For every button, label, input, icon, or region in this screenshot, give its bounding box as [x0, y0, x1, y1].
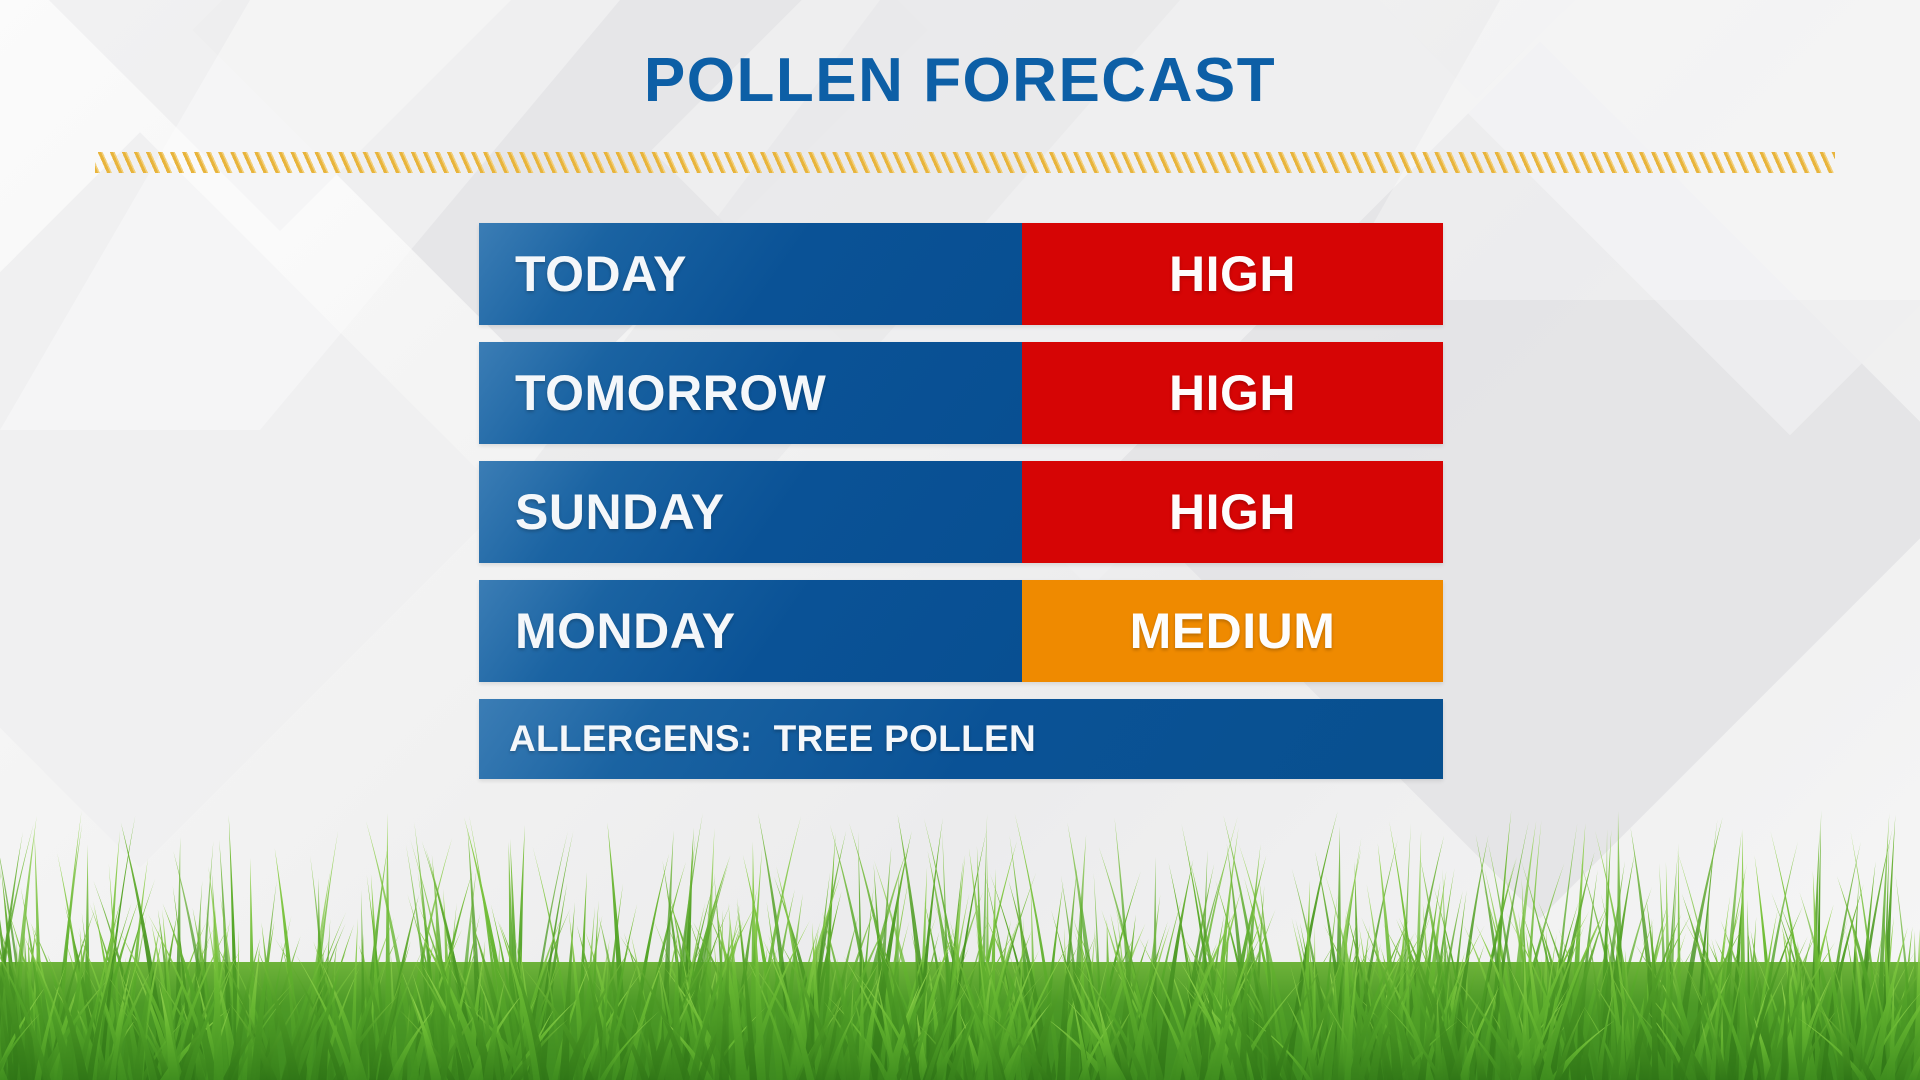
- level-label: HIGH: [1169, 483, 1296, 541]
- day-label: TODAY: [515, 245, 687, 303]
- level-cell: MEDIUM: [1022, 580, 1443, 682]
- level-label: MEDIUM: [1130, 602, 1336, 660]
- day-label: TOMORROW: [515, 364, 826, 422]
- allergens-bar: ALLERGENS: TREE POLLEN: [479, 699, 1443, 779]
- allergens-text: ALLERGENS: TREE POLLEN: [509, 718, 1036, 760]
- forecast-table: TODAY HIGH TOMORROW HIGH SUNDAY HIGH: [479, 223, 1443, 699]
- grass-blades: {}: [0, 780, 1920, 1080]
- grass-foreground: {}: [0, 780, 1920, 1080]
- table-row: SUNDAY HIGH: [479, 461, 1443, 563]
- level-label: HIGH: [1169, 245, 1296, 303]
- day-cell: MONDAY: [479, 580, 1022, 682]
- day-cell: TOMORROW: [479, 342, 1022, 444]
- table-row: MONDAY MEDIUM: [479, 580, 1443, 682]
- hatched-divider: [95, 152, 1835, 173]
- level-cell: HIGH: [1022, 342, 1443, 444]
- table-row: TOMORROW HIGH: [479, 342, 1443, 444]
- day-label: SUNDAY: [515, 483, 725, 541]
- level-cell: HIGH: [1022, 461, 1443, 563]
- table-row: TODAY HIGH: [479, 223, 1443, 325]
- day-cell: SUNDAY: [479, 461, 1022, 563]
- day-label: MONDAY: [515, 602, 736, 660]
- day-cell: TODAY: [479, 223, 1022, 325]
- pollen-forecast-graphic: POLLEN FORECAST TODAY HIGH TOMORROW HIGH…: [0, 0, 1920, 1080]
- level-label: HIGH: [1169, 364, 1296, 422]
- page-title: POLLEN FORECAST: [0, 48, 1920, 113]
- level-cell: HIGH: [1022, 223, 1443, 325]
